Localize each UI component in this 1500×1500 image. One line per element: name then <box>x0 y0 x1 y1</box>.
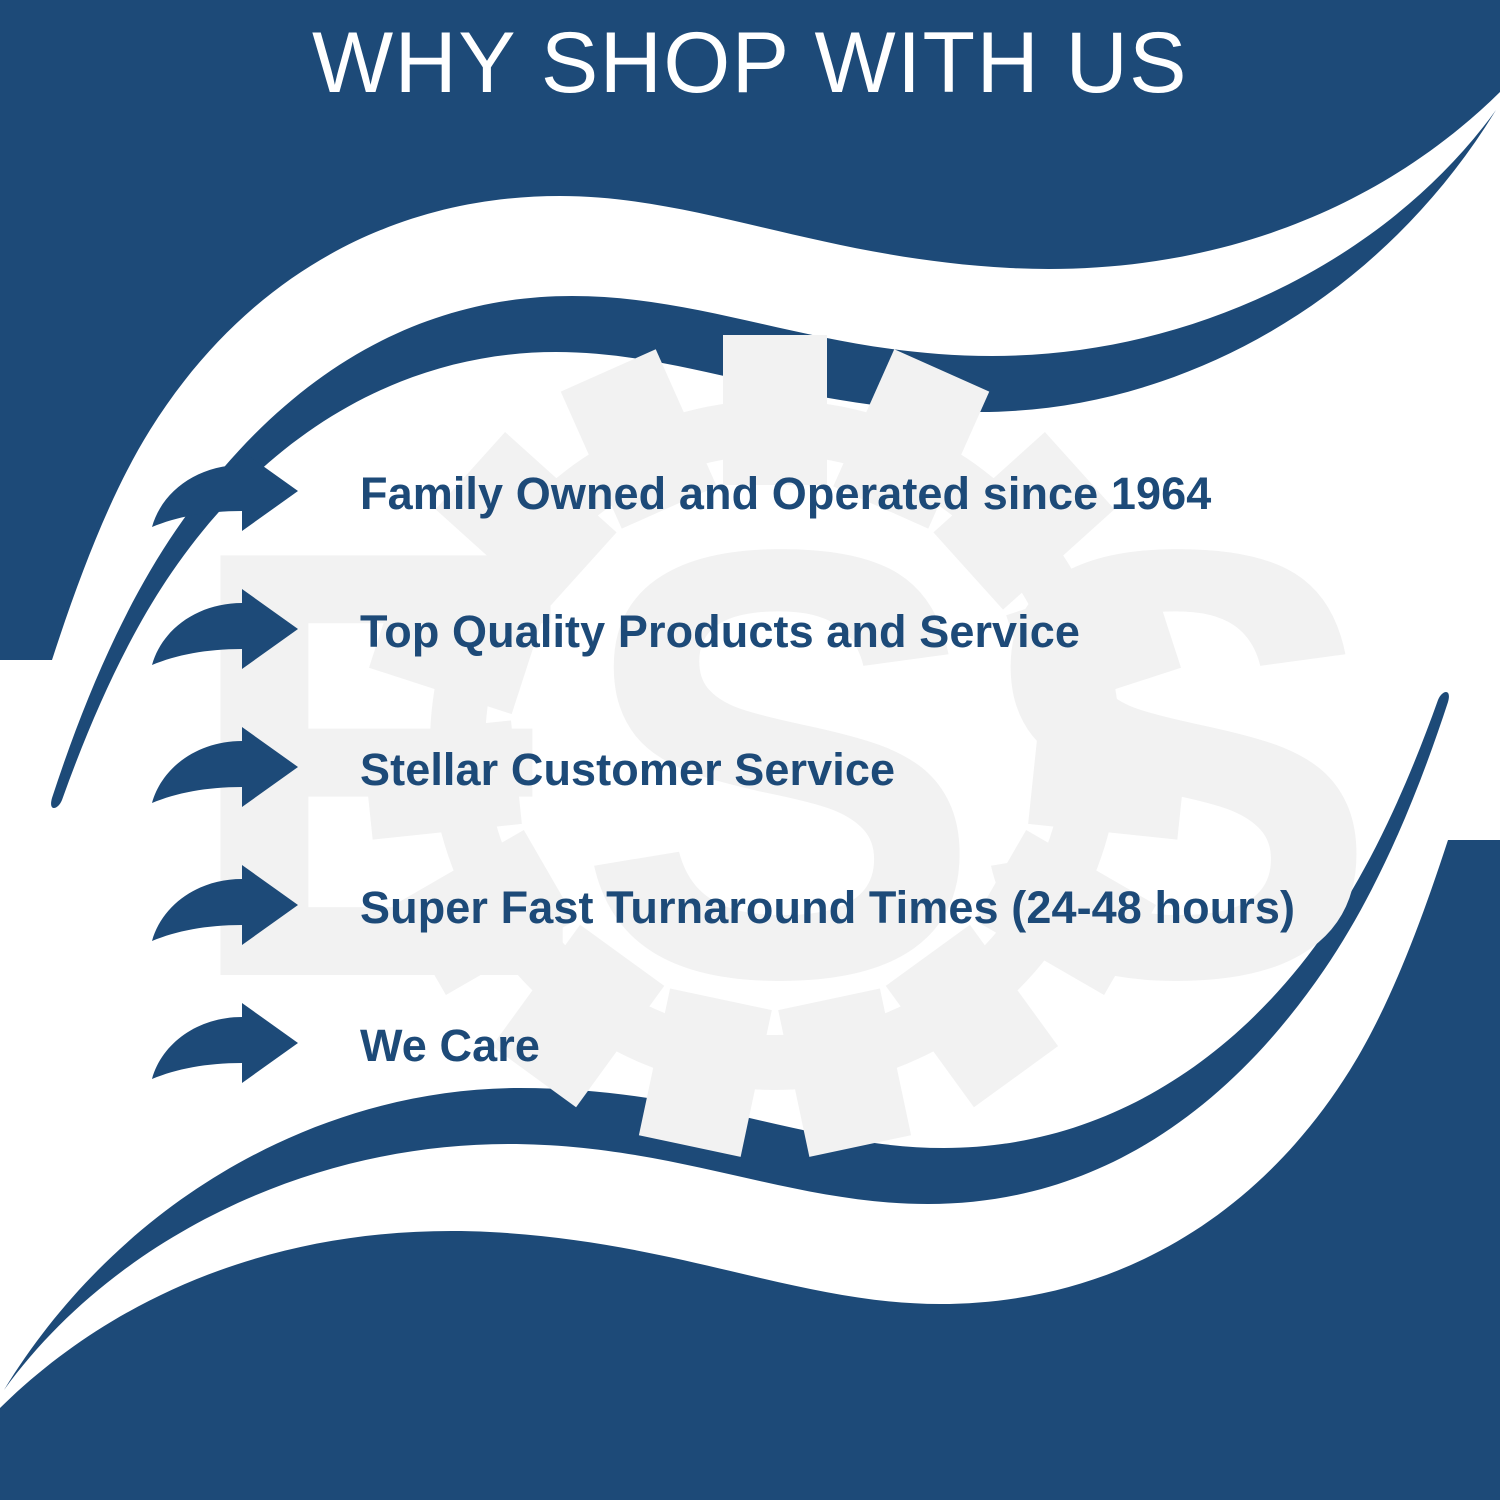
why-shop-with-us-poster: ESS WHY SHOP WITH US Family Owned and Op… <box>0 0 1500 1500</box>
list-item-label: Family Owned and Operated since 1964 <box>360 469 1470 519</box>
list-item: Top Quality Products and Service <box>150 563 1470 701</box>
page-title: WHY SHOP WITH US <box>0 18 1500 108</box>
curved-arrow-right-icon <box>150 865 300 951</box>
list-item: Family Owned and Operated since 1964 <box>150 425 1470 563</box>
list-item: Super Fast Turnaround Times (24-48 hours… <box>150 839 1470 977</box>
list-item: Stellar Customer Service <box>150 701 1470 839</box>
curved-arrow-right-icon <box>150 1003 300 1089</box>
curved-arrow-right-icon <box>150 727 300 813</box>
curved-arrow-right-icon <box>150 589 300 675</box>
list-item-label: Stellar Customer Service <box>360 745 1470 795</box>
list-item-label: Super Fast Turnaround Times (24-48 hours… <box>360 883 1470 933</box>
list-item: We Care <box>150 977 1470 1115</box>
curved-arrow-right-icon <box>150 451 300 537</box>
list-item-label: We Care <box>360 1021 1470 1071</box>
list-item-label: Top Quality Products and Service <box>360 607 1470 657</box>
benefits-list: Family Owned and Operated since 1964 Top… <box>150 425 1470 1115</box>
